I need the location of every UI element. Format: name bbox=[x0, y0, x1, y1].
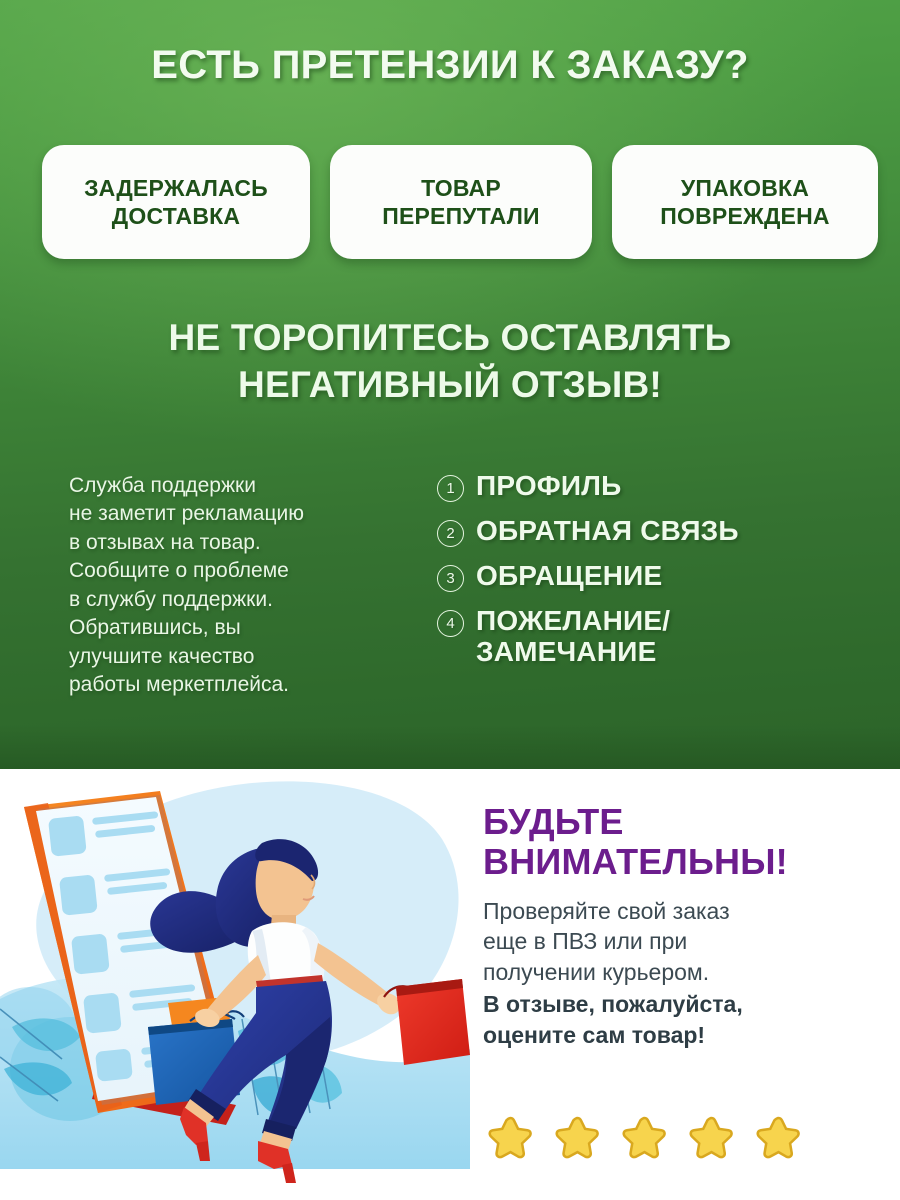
reason-card-damaged-package[interactable]: УПАКОВКА ПОВРЕЖДЕНА bbox=[612, 145, 878, 259]
steps-list: 1 ПРОФИЛЬ 2 ОБРАТНАЯ СВЯЗЬ 3 ОБРАЩЕНИЕ 4… bbox=[437, 470, 867, 668]
star-rating[interactable] bbox=[483, 1108, 823, 1170]
step-number-circle-icon: 4 bbox=[437, 610, 464, 637]
claims-green-section: ЕСТЬ ПРЕТЕНЗИИ К ЗАКАЗУ? ЗАДЕРЖАЛАСЬ ДОС… bbox=[0, 0, 900, 769]
reason-card-wrong-item[interactable]: ТОВАР ПЕРЕПУТАЛИ bbox=[330, 145, 592, 259]
list-item[interactable]: 4 ПОЖЕЛАНИЕ/ ЗАМЕЧАНИЕ bbox=[437, 605, 867, 668]
star-icon[interactable] bbox=[617, 1112, 672, 1167]
step-label: ПРОФИЛЬ bbox=[476, 470, 621, 501]
step-number-circle-icon: 3 bbox=[437, 565, 464, 592]
support-paragraph: Служба поддержки не заметит рекламацию в… bbox=[69, 472, 399, 700]
star-icon[interactable] bbox=[751, 1112, 806, 1167]
attention-white-section: БУДЬТЕ ВНИМАТЕЛЬНЫ! Проверяйте свой зака… bbox=[0, 769, 900, 1200]
step-number-circle-icon: 1 bbox=[437, 475, 464, 502]
reason-card-label: ЗАДЕРЖАЛАСЬ ДОСТАВКА bbox=[84, 174, 268, 230]
star-icon[interactable] bbox=[483, 1112, 538, 1167]
star-icon[interactable] bbox=[684, 1112, 739, 1167]
attention-paragraph: Проверяйте свой заказ еще в ПВЗ или при … bbox=[483, 896, 883, 988]
step-label: ПОЖЕЛАНИЕ/ ЗАМЕЧАНИЕ bbox=[476, 605, 670, 668]
attention-paragraph-emphasis: В отзыве, пожалуйста, оцените сам товар! bbox=[483, 989, 883, 1050]
reason-cards-row: ЗАДЕРЖАЛАСЬ ДОСТАВКА ТОВАР ПЕРЕПУТАЛИ УП… bbox=[42, 145, 878, 259]
page-title: ЕСТЬ ПРЕТЕНЗИИ К ЗАКАЗУ? bbox=[0, 43, 900, 88]
green-body-columns: Служба поддержки не заметит рекламацию в… bbox=[0, 470, 900, 740]
list-item[interactable]: 2 ОБРАТНАЯ СВЯЗЬ bbox=[437, 515, 867, 547]
attention-text-block: БУДЬТЕ ВНИМАТЕЛЬНЫ! Проверяйте свой зака… bbox=[483, 802, 883, 1051]
woman-shopping-with-phone-illustration bbox=[0, 769, 470, 1200]
reason-card-label: ТОВАР ПЕРЕПУТАЛИ bbox=[382, 174, 540, 230]
subheading-do-not-rush: НЕ ТОРОПИТЕСЬ ОСТАВЛЯТЬ НЕГАТИВНЫЙ ОТЗЫВ… bbox=[0, 315, 900, 408]
step-number-circle-icon: 2 bbox=[437, 520, 464, 547]
step-label: ОБРАТНАЯ СВЯЗЬ bbox=[476, 515, 739, 546]
star-icon[interactable] bbox=[550, 1112, 605, 1167]
reason-card-label: УПАКОВКА ПОВРЕЖДЕНА bbox=[660, 174, 829, 230]
attention-heading: БУДЬТЕ ВНИМАТЕЛЬНЫ! bbox=[483, 802, 883, 883]
step-label: ОБРАЩЕНИЕ bbox=[476, 560, 662, 591]
list-item[interactable]: 3 ОБРАЩЕНИЕ bbox=[437, 560, 867, 592]
reason-card-delayed-delivery[interactable]: ЗАДЕРЖАЛАСЬ ДОСТАВКА bbox=[42, 145, 310, 259]
red-shopping-bag bbox=[384, 979, 470, 1065]
list-item[interactable]: 1 ПРОФИЛЬ bbox=[437, 470, 867, 502]
